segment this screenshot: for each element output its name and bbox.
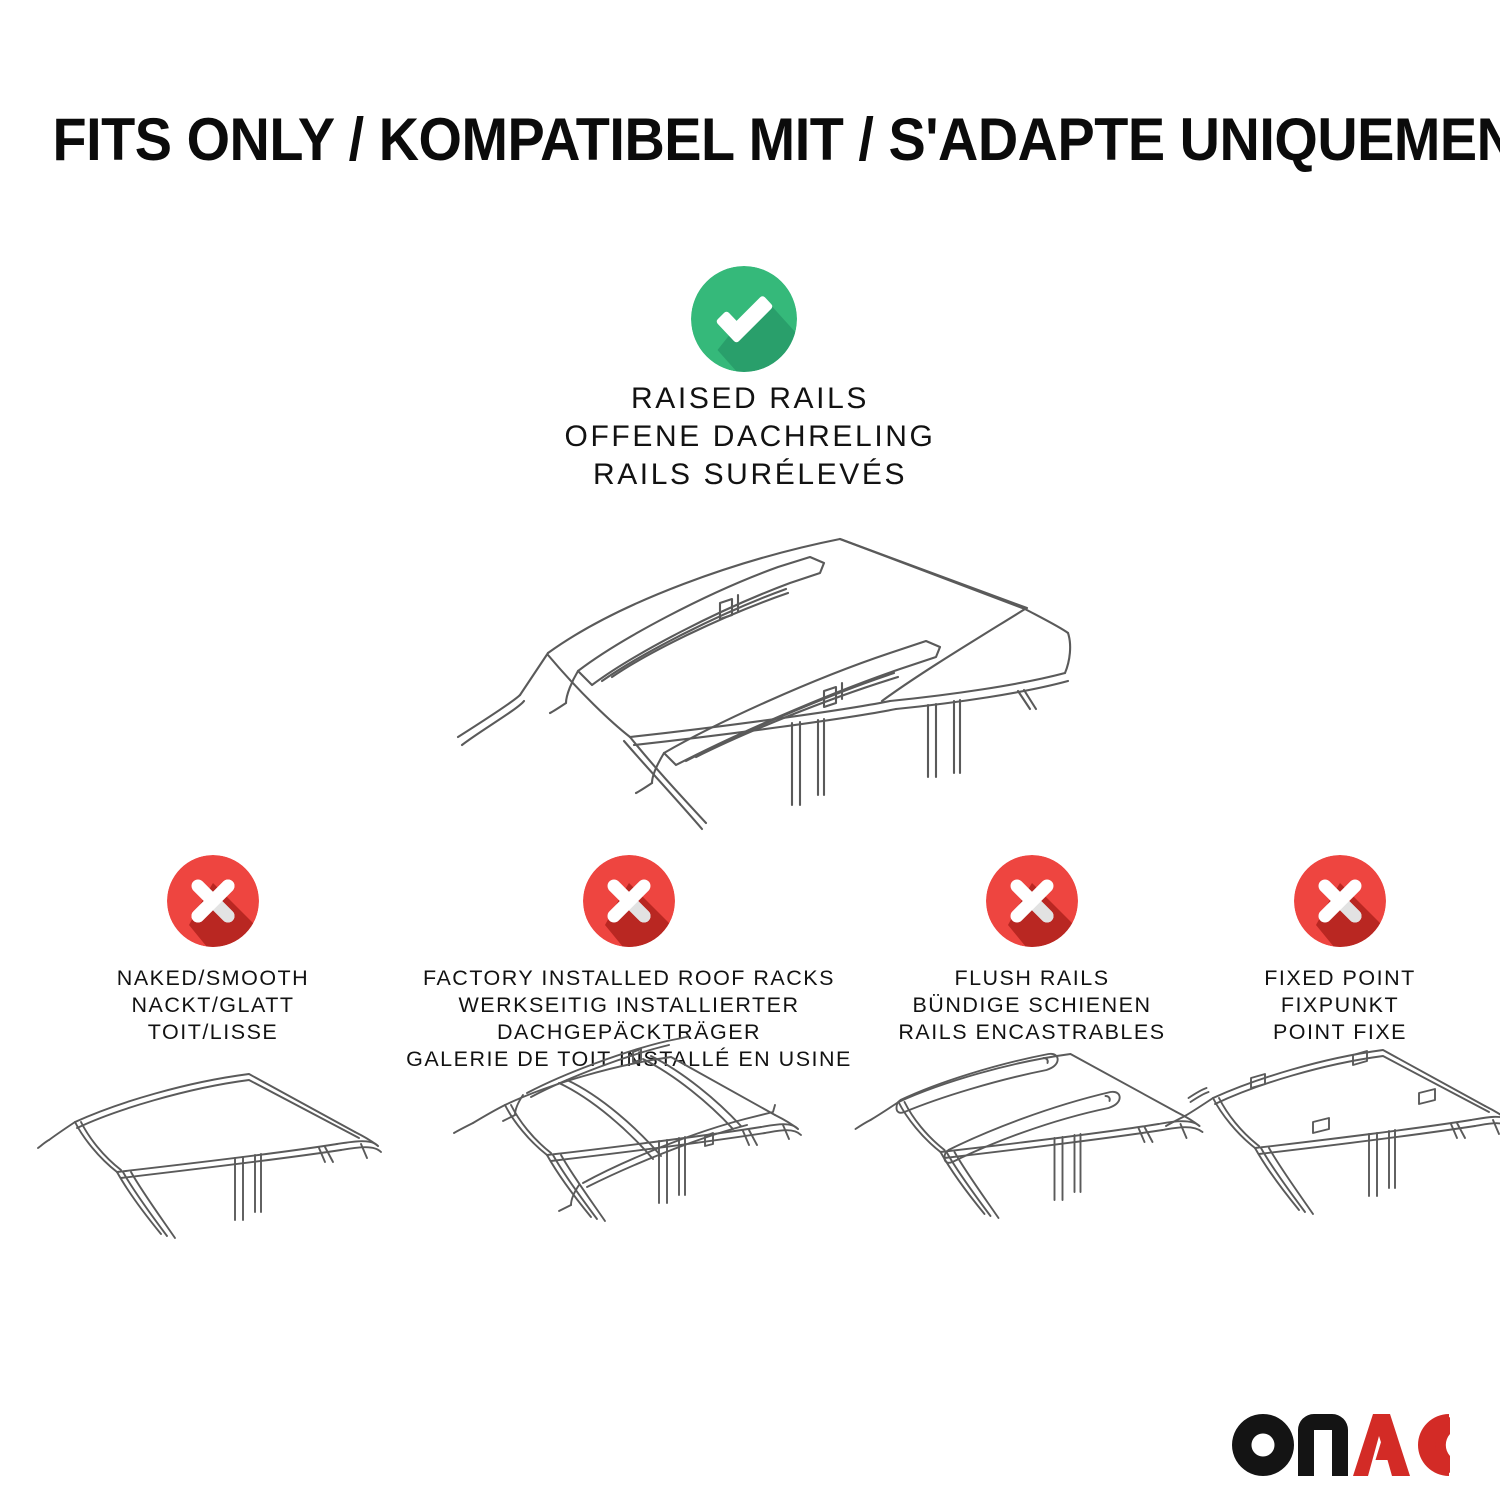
compatible-label: RAISED RAILS OFFENE DACHRELING RAILS SUR… <box>350 380 1150 494</box>
car-roof-naked-smooth-illustration <box>37 1060 389 1310</box>
omac-logo-letter-m <box>1298 1414 1348 1476</box>
incompatible-label-fixed: FIXED POINT FIXPUNKT POINT FIXE <box>1215 965 1465 1046</box>
omac-logo-svg <box>1232 1414 1450 1476</box>
compatible-label-en: RAISED RAILS <box>350 380 1150 418</box>
badge-wrapper <box>1215 855 1465 947</box>
cross-circle-svg <box>1294 855 1386 947</box>
badge-wrapper <box>43 855 383 947</box>
omac-logo-letter-a <box>1353 1414 1410 1476</box>
compatible-label-fr: RAILS SURÉLEVÉS <box>350 456 1150 494</box>
label-line-fr: TOIT/LISSE <box>43 1019 383 1046</box>
car-roof-factory-roof-racks-svg <box>453 1035 805 1290</box>
car-roof-raised-rails-svg <box>420 505 1110 835</box>
label-line-de: BÜNDIGE SCHIENEN <box>868 992 1196 1019</box>
car-roof-flush-rails-svg <box>855 1040 1210 1292</box>
cross-circle-icon <box>167 855 259 947</box>
label-line-en: FIXED POINT <box>1215 965 1465 992</box>
label-line-de: NACKT/GLATT <box>43 992 383 1019</box>
car-roof-factory-roof-racks-illustration <box>453 1035 805 1290</box>
omac-logo-letter-o <box>1232 1414 1294 1476</box>
cross-circle-icon <box>583 855 675 947</box>
incompatible-label-naked: NAKED/SMOOTH NACKT/GLATT TOIT/LISSE <box>43 965 383 1046</box>
car-roof-fixed-point-illustration <box>1165 1040 1500 1292</box>
cross-circle-icon <box>986 855 1078 947</box>
cross-circle-svg <box>167 855 259 947</box>
label-line-en: NAKED/SMOOTH <box>43 965 383 992</box>
cross-circle-svg <box>986 855 1078 947</box>
car-roof-flush-rails-illustration <box>855 1040 1210 1292</box>
car-roof-naked-smooth-svg <box>37 1060 389 1310</box>
label-line-en: FLUSH RAILS <box>868 965 1196 992</box>
compatible-label-de: OFFENE DACHRELING <box>350 418 1150 456</box>
incompatible-column-naked: NAKED/SMOOTH NACKT/GLATT TOIT/LISSE <box>43 855 383 1046</box>
check-circle-svg <box>691 266 797 372</box>
cross-circle-icon <box>1294 855 1386 947</box>
fitment-infographic: FITS ONLY / KOMPATIBEL MIT / S'ADAPTE UN… <box>0 0 1500 1500</box>
check-circle-icon <box>691 266 797 372</box>
incompatible-label-flush: FLUSH RAILS BÜNDIGE SCHIENEN RAILS ENCAS… <box>868 965 1196 1046</box>
badge-wrapper <box>868 855 1196 947</box>
incompatible-column-factory: FACTORY INSTALLED ROOF RACKS WERKSEITIG … <box>398 855 860 1073</box>
omac-logo <box>1232 1414 1450 1476</box>
page-title: FITS ONLY / KOMPATIBEL MIT / S'ADAPTE UN… <box>53 104 1448 176</box>
badge-wrapper <box>398 855 860 947</box>
car-roof-raised-rails-illustration <box>420 505 1110 835</box>
label-line-de1: WERKSEITIG INSTALLIERTER <box>398 992 860 1019</box>
car-roof-fixed-point-svg <box>1165 1040 1500 1292</box>
label-line-en: FACTORY INSTALLED ROOF RACKS <box>398 965 860 992</box>
cross-circle-svg <box>583 855 675 947</box>
label-line-de: FIXPUNKT <box>1215 992 1465 1019</box>
incompatible-column-fixed: FIXED POINT FIXPUNKT POINT FIXE <box>1215 855 1465 1046</box>
incompatible-column-flush: FLUSH RAILS BÜNDIGE SCHIENEN RAILS ENCAS… <box>868 855 1196 1046</box>
